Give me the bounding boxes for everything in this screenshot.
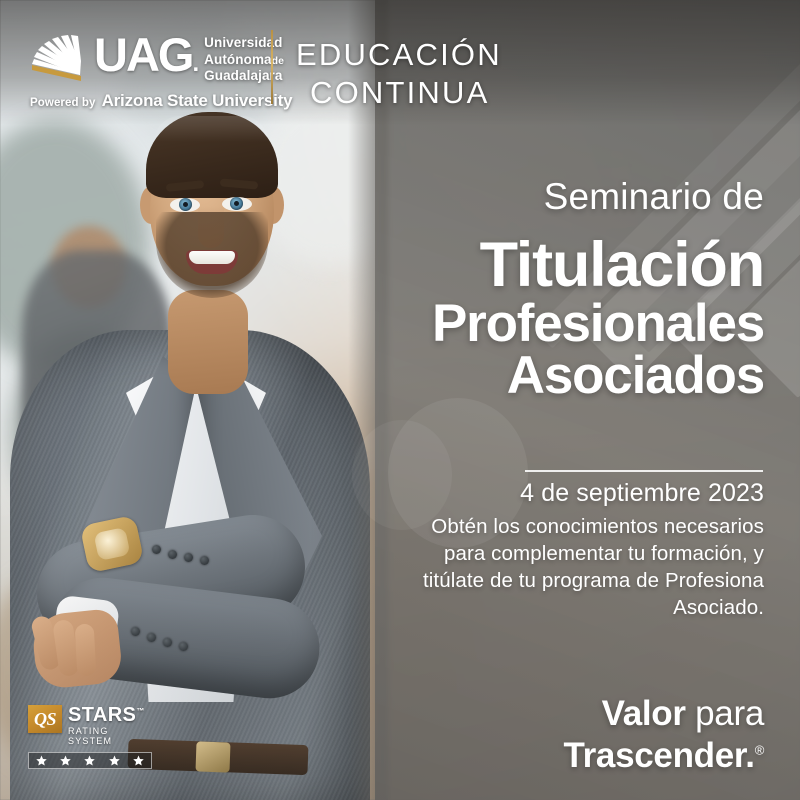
star-icon <box>84 755 95 766</box>
promotional-poster: UAG. Universidad Autónomade Guadalajara … <box>0 0 800 800</box>
tagline-word-bold: Valor <box>602 694 686 733</box>
header-divider <box>271 30 273 104</box>
uag-acronym: UAG. <box>94 32 197 78</box>
sleeve-button <box>147 633 156 642</box>
main-content: Seminario de Titulación Profesionales As… <box>392 0 778 800</box>
powered-by-partner: Arizona State University <box>102 91 293 111</box>
event-title: Titulación Profesionales Asociados <box>392 236 764 400</box>
event-title-line2: Profesionales <box>392 299 764 348</box>
sleeve-button <box>168 550 177 559</box>
qs-badge-top: QS STARS™ RATING SYSTEM <box>28 705 152 747</box>
qs-stars-word: STARS™ <box>68 705 152 725</box>
tagline-word-light: para <box>695 694 764 733</box>
pupil-right <box>234 201 239 206</box>
star-icon <box>60 755 71 766</box>
pupil-left <box>183 202 188 207</box>
event-title-line3: Asociados <box>392 351 764 400</box>
open-book-fan-icon <box>30 34 86 82</box>
date-divider-rule <box>525 470 763 472</box>
sleeve-button <box>131 627 140 636</box>
event-kicker: Seminario de <box>392 178 764 215</box>
event-date: 4 de septiembre 2023 <box>392 479 764 508</box>
neck <box>168 290 248 394</box>
star-icon <box>133 755 144 766</box>
qs-badge-text: STARS™ RATING SYSTEM <box>68 705 152 747</box>
sleeve-button <box>200 556 209 565</box>
powered-by-prefix: Powered by <box>30 97 96 109</box>
de-connector: de <box>272 55 284 67</box>
sleeve-button <box>179 642 188 651</box>
qs-mark: QS <box>28 705 62 733</box>
nose <box>198 206 224 248</box>
finger <box>75 624 97 677</box>
sleeve-button <box>163 638 172 647</box>
sleeve-button <box>152 545 161 554</box>
qs-stars-badge: QS STARS™ RATING SYSTEM <box>28 705 152 769</box>
event-title-line1: Titulación <box>392 236 764 295</box>
star-icon <box>109 755 120 766</box>
star-icon <box>36 755 47 766</box>
uag-logo: UAG. Universidad Autónomade Guadalajara <box>30 32 284 85</box>
belt-buckle <box>195 741 230 772</box>
mouth <box>186 250 238 274</box>
trademark-icon: ™ <box>136 706 144 715</box>
brand-tagline: Valor para Trascender.® <box>392 693 764 776</box>
tagline-line2: Trascender. <box>563 736 754 775</box>
registered-mark: ® <box>755 742 764 757</box>
teeth <box>189 251 235 264</box>
event-description: Obtén los conocimientos necesarios para … <box>392 514 764 621</box>
powered-by-line: Powered by Arizona State University <box>30 91 292 111</box>
qs-badge-subtitle: RATING SYSTEM <box>68 727 152 747</box>
sleeve-button <box>184 553 193 562</box>
uag-period: . <box>192 50 197 77</box>
qs-star-rating-bar <box>28 752 152 769</box>
